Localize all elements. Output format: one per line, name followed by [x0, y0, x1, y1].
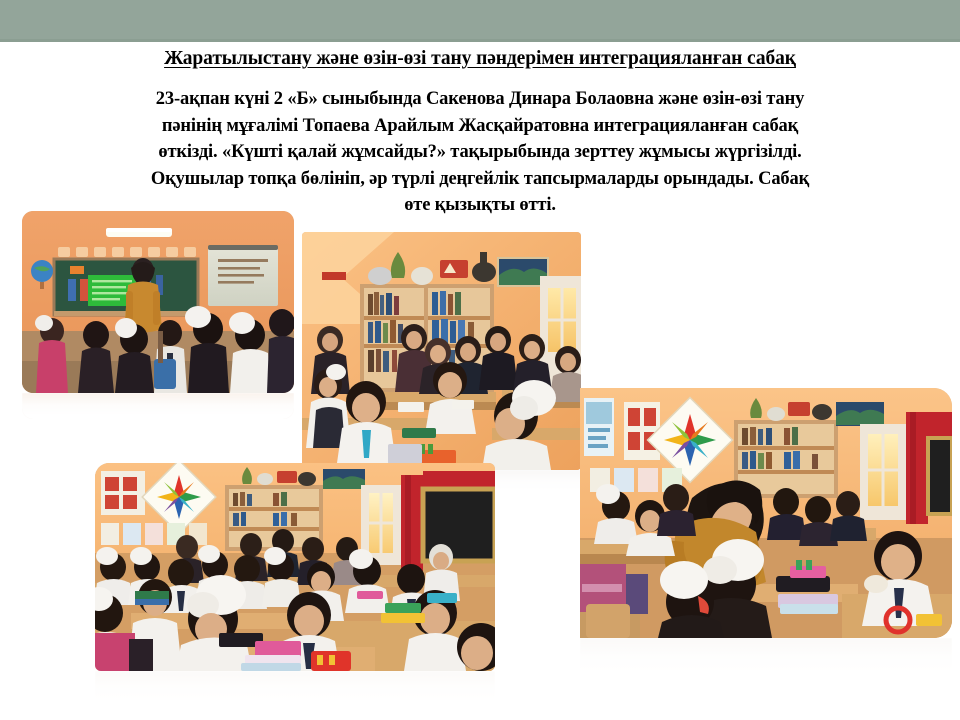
- photo2-scene: [302, 232, 581, 470]
- body-line-3: өткізді. «Күшті қалай жұмсайды?» тақырыб…: [28, 139, 932, 166]
- body-line-1: 23-ақпан күні 2 «Б» сыныбында Сакенова Д…: [28, 86, 932, 113]
- slide-top-band: [0, 0, 960, 39]
- photo3-scene: [580, 388, 952, 638]
- body-line-2: пәнінің мұғалімі Топаева Арайлым Жасқайр…: [28, 113, 932, 140]
- classroom-photo-observers: [302, 232, 581, 470]
- page-title-text: Жаратылыстану және өзін-өзі тану пәндері…: [164, 48, 796, 69]
- body-line-4: Оқушылар топқа бөлініп, әр түрлі деңгейл…: [28, 166, 932, 193]
- photo1-scene: [22, 211, 294, 393]
- classroom-photo-teacher-at-board: [22, 211, 294, 393]
- photo4-scene: [95, 463, 495, 671]
- presentation-slide: Жаратылыстану және өзін-өзі тану пәндері…: [0, 0, 960, 720]
- classroom-photo-teacher-helping: [580, 388, 952, 638]
- slide-top-band-rule: [0, 39, 960, 42]
- body-paragraph: 23-ақпан күні 2 «Б» сыныбында Сакенова Д…: [28, 86, 932, 219]
- page-title: Жаратылыстану және өзін-өзі тану пәндері…: [40, 47, 920, 71]
- classroom-photo-wide-view-reflection: [95, 671, 495, 705]
- classroom-photo-wide-view: [95, 463, 495, 671]
- classroom-photo-teacher-helping-reflection: [580, 638, 952, 678]
- classroom-photo-teacher-at-board-reflection: [22, 393, 294, 419]
